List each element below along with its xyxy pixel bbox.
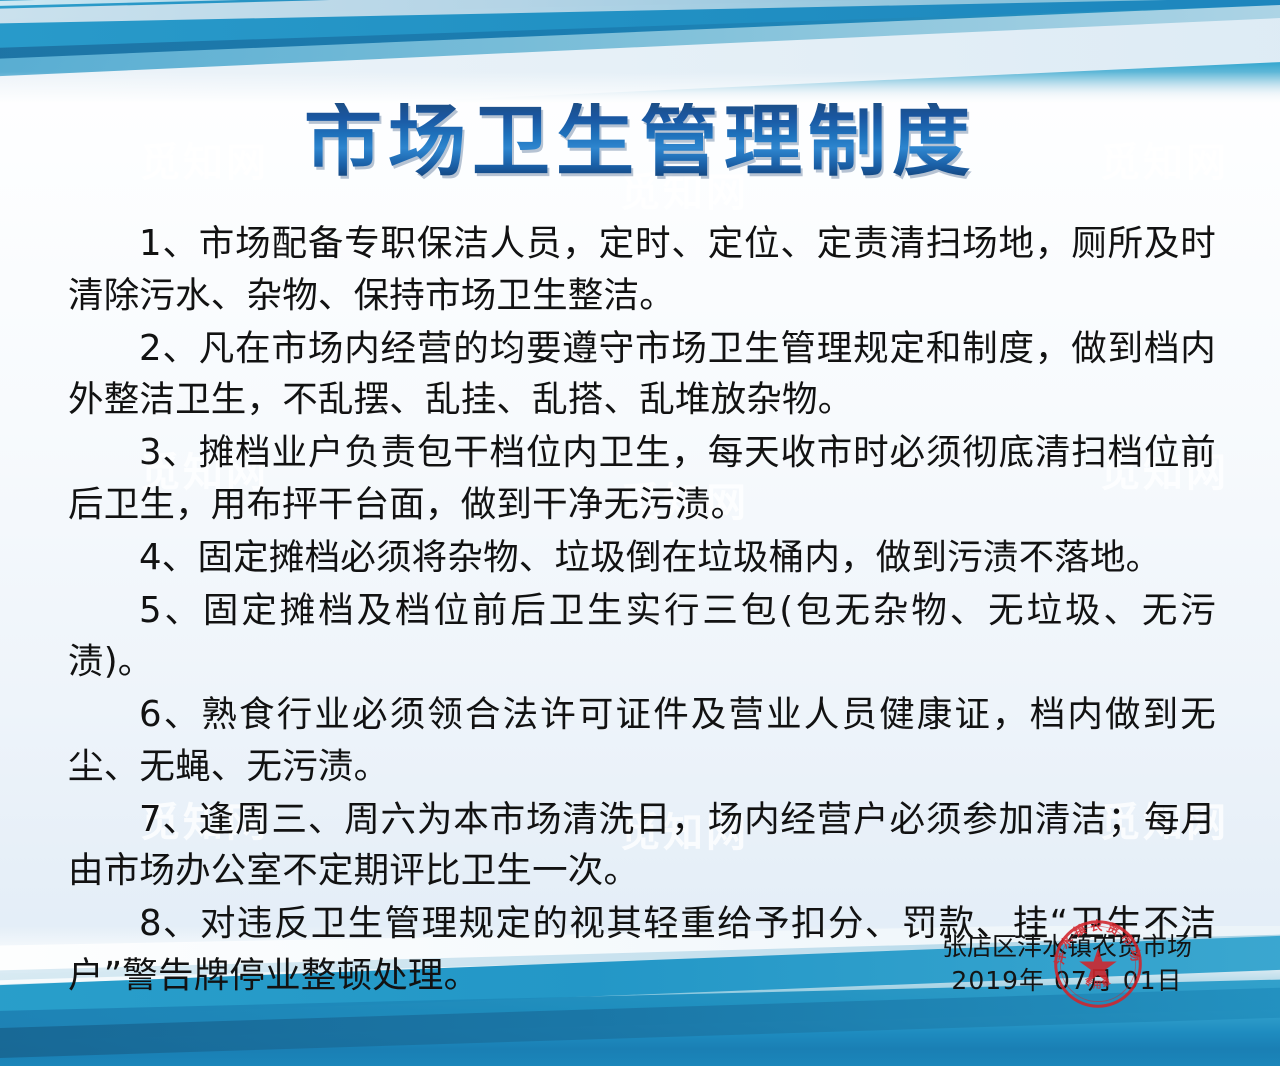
issuing-organization: 张店区沣水镇农贸市场 [942,930,1192,964]
list-item: 5、固定摊档及档位前后卫生实行三包(包无杂物、无垃圾、无污渍)。 [68,585,1216,688]
list-item: 7、逢周三、周六为本市场清洗日，场内经营户必须参加清洁；每月由市场办公室不定期评… [68,794,1216,897]
poster-canvas: 觅知网 觅知网 觅知网 觅知网 觅知网 觅知网 觅知网 觅知网 觅知网 市场卫生… [0,0,1280,1066]
list-item: 3、摊档业户负责包干档位内卫生，每天收市时必须彻底清扫档位前后卫生，用布抨干台面… [68,427,1216,530]
list-item: 4、固定摊档必须将杂物、垃圾倒在垃圾桶内，做到污渍不落地。 [68,532,1216,584]
list-item: 1、市场配备专职保洁人员，定时、定位、定责清扫场地，厕所及时清除污水、杂物、保持… [68,218,1216,321]
list-item: 6、熟食行业必须领合法许可证件及营业人员健康证，档内做到无尘、无蝇、无污渍。 [68,689,1216,792]
signature-block: 张店区沣水镇农贸市场 2019年 07月 01日 [942,930,1192,998]
list-item: 2、凡在市场内经营的均要遵守市场卫生管理规定和制度，做到档内外整洁卫生，不乱摆、… [68,323,1216,426]
poster-content: 市场卫生管理制度 1、市场配备专职保洁人员，定时、定位、定责清扫场地，厕所及时清… [0,0,1280,1066]
issue-date: 2019年 07月 01日 [942,964,1192,998]
page-title: 市场卫生管理制度 [0,103,1280,181]
regulations-list: 1、市场配备专职保洁人员，定时、定位、定责清扫场地，厕所及时清除污水、杂物、保持… [68,218,1216,1003]
